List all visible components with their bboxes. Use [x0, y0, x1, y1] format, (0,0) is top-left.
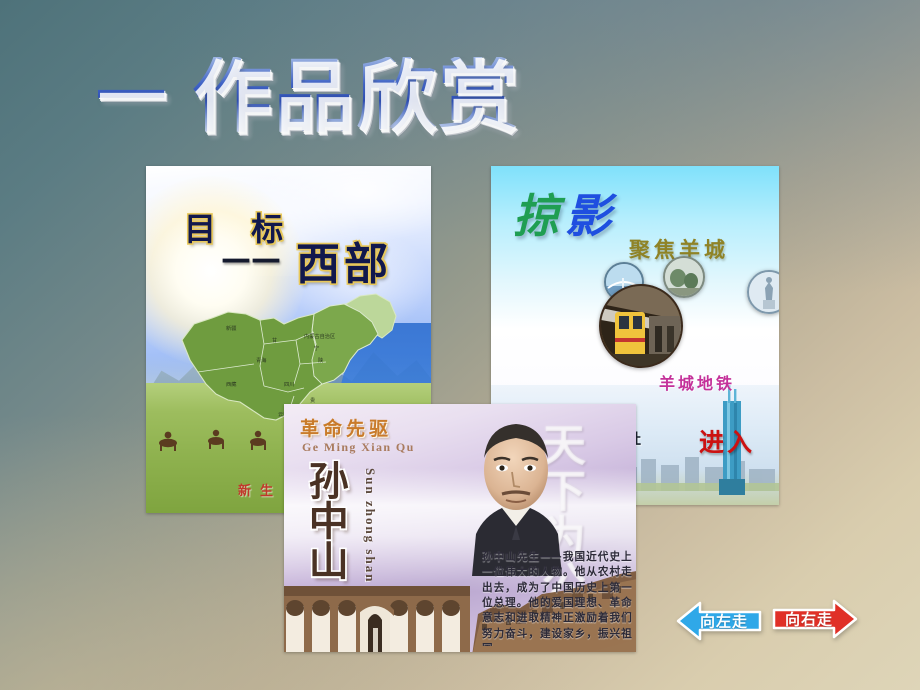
sun-heading-pinyin: Ge Ming Xian Qu	[302, 440, 415, 455]
svg-text:西藏: 西藏	[226, 380, 237, 388]
svg-text:贵: 贵	[310, 396, 315, 404]
metro-caption: 羊城地铁	[659, 370, 735, 394]
artwork-panel-sun-yat-sen[interactable]: 天下为公 革命先驱 Ge Ming Xian Qu	[284, 404, 636, 652]
arrow-right-icon	[772, 598, 858, 640]
medallion-statue-photo[interactable]	[747, 270, 779, 314]
svg-text:陕: 陕	[318, 356, 323, 364]
svg-text:新疆: 新疆	[226, 324, 236, 332]
medallion-metro-train-photo[interactable]	[599, 284, 683, 368]
city-title-char2: 影	[565, 189, 617, 243]
west-title-line2: 西部	[296, 228, 392, 292]
svg-text:青海: 青海	[256, 356, 266, 364]
title-main-text: 作品欣赏	[192, 57, 520, 137]
svg-text:宁: 宁	[314, 344, 319, 352]
nav-right-button[interactable]: 向右走	[772, 598, 858, 640]
memorial-hall-decoration	[284, 562, 470, 652]
city-title-char1: 掠	[513, 189, 565, 243]
nav-left-button[interactable]: 向左走	[676, 600, 762, 642]
svg-text:甘: 甘	[272, 336, 277, 344]
sun-heading: 革命先驱	[300, 414, 392, 441]
svg-text:内蒙古自治区: 内蒙古自治区	[304, 332, 335, 340]
arrow-left-icon	[676, 600, 762, 642]
west-footer-text: 新生	[238, 480, 282, 499]
sun-body-text: 孙中山先生——我国近代史上一位伟大的人物。他从农村走出去，成为了中国历史上第一位…	[482, 550, 632, 646]
enter-button-label[interactable]: 进入	[699, 423, 755, 459]
city-title: 掠影	[513, 180, 617, 246]
west-title-dash: ——	[221, 242, 281, 277]
page-title: 一 作品欣赏	[96, 48, 516, 146]
presentation-slide: 一 作品欣赏 目 标 —— 西部	[0, 0, 920, 690]
title-prefix-glyph: 一	[96, 62, 166, 132]
svg-text:四川: 四川	[284, 381, 294, 388]
